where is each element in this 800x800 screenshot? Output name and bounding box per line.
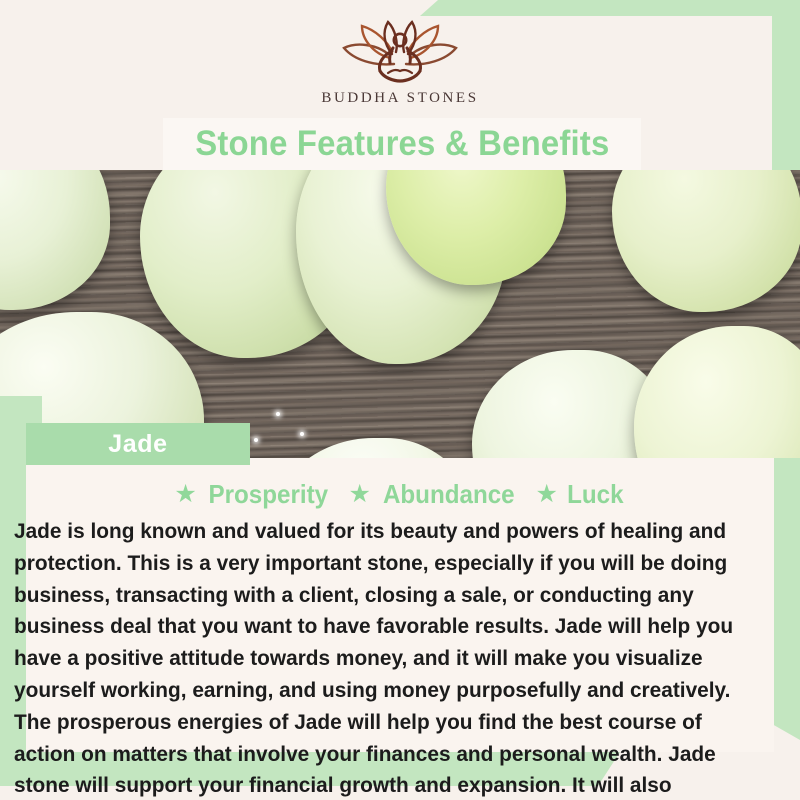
sparkle-icon xyxy=(300,432,304,436)
benefits-row: ★ Prosperity ★ Abundance ★ Luck xyxy=(26,458,774,511)
benefit-item: ★ Luck xyxy=(535,479,625,510)
benefit-item: ★ Abundance xyxy=(348,479,519,510)
lotus-meditation-icon xyxy=(334,18,466,86)
star-icon: ★ xyxy=(174,482,196,507)
brand-header: BUDDHA STONES xyxy=(0,18,800,118)
title-banner: Stone Features & Benefits xyxy=(163,118,641,170)
star-icon: ★ xyxy=(348,482,370,507)
page-title: Stone Features & Benefits xyxy=(195,124,609,164)
content-panel: ★ Prosperity ★ Abundance ★ Luck Jade is … xyxy=(26,458,774,752)
decor-band-top xyxy=(420,0,800,16)
brand-name: BUDDHA STONES xyxy=(321,90,478,107)
benefit-label: Abundance xyxy=(383,479,515,510)
benefit-label: Prosperity xyxy=(208,479,328,510)
sparkle-icon xyxy=(254,438,258,442)
decor-band-right-lower xyxy=(772,700,800,740)
star-icon: ★ xyxy=(535,482,557,507)
sparkle-icon xyxy=(276,412,280,416)
description-text: Jade is long known and valued for its be… xyxy=(14,511,749,800)
stone-name: Jade xyxy=(108,430,167,459)
benefit-item: ★ Prosperity xyxy=(174,479,332,510)
jade-stone-infographic: BUDDHA STONES Stone Features & Benefits … xyxy=(0,0,800,800)
stone-photo xyxy=(0,170,800,458)
stone-name-band: Jade xyxy=(26,423,250,465)
benefit-label: Luck xyxy=(567,479,623,510)
